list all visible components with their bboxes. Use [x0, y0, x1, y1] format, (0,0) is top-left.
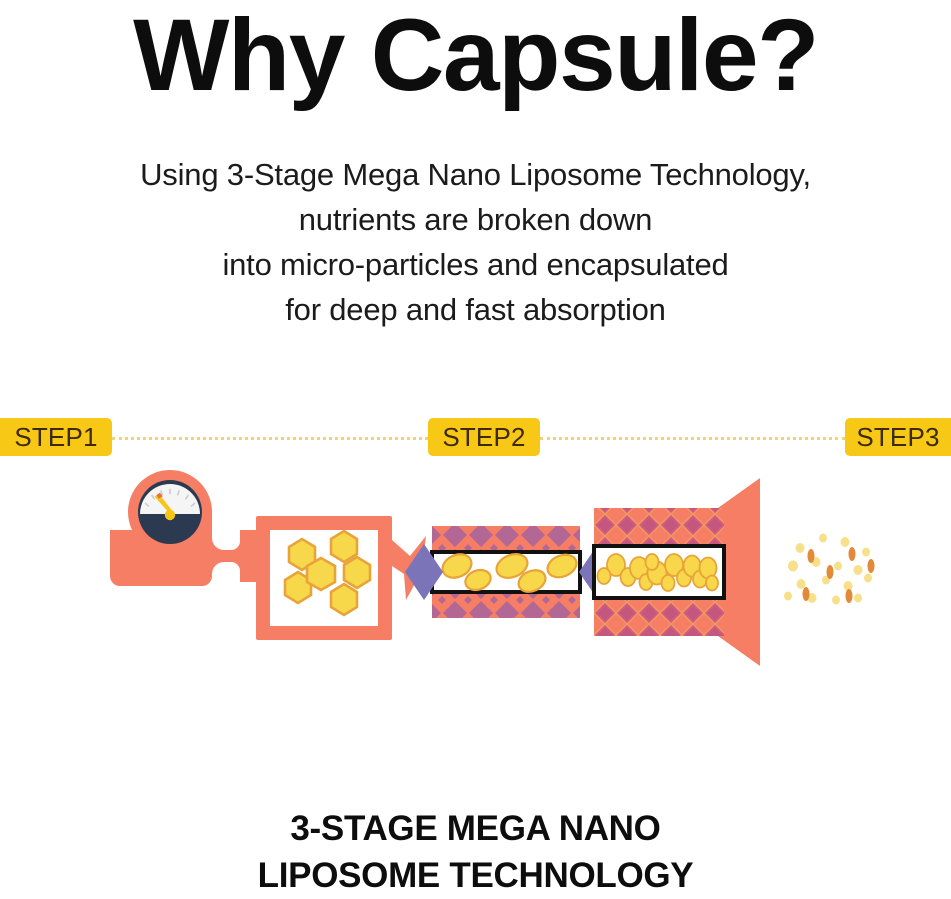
spray-dot-2 — [819, 534, 827, 543]
spray-dot-14 — [832, 596, 840, 605]
spray-dot-15 — [854, 594, 862, 603]
stage1-group — [110, 470, 266, 586]
spray-dot-5 — [788, 561, 798, 572]
subtitle-block: Using 3-Stage Mega Nano Liposome Technol… — [0, 152, 951, 332]
stage3-particle-14 — [646, 554, 659, 570]
subtitle-line-2: nutrients are broken down — [0, 197, 951, 242]
subtitle-line-4: for deep and fast absorption — [0, 287, 951, 332]
stage3-particle-12 — [706, 576, 718, 591]
gauge-needle-hub — [165, 510, 175, 520]
spray-dot-8 — [854, 565, 863, 575]
stage2-chamber-group — [405, 526, 580, 618]
step-rail: STEP1 STEP2 STEP3 — [0, 418, 951, 458]
stage2-top-lattice-band — [432, 526, 580, 552]
spray-dot-7 — [834, 562, 842, 571]
hexagon-4 — [307, 558, 335, 590]
stage3-particle-6 — [662, 575, 675, 591]
spray-dot-9 — [797, 579, 806, 589]
caption-line-2: LIPOSOME TECHNOLOGY — [0, 852, 951, 899]
stage3-particle-13 — [598, 568, 611, 584]
process-illustration — [0, 470, 951, 680]
output-particle-spray — [784, 534, 875, 605]
step-badge-3[interactable]: STEP3 — [845, 418, 951, 456]
spray-dot-3 — [841, 537, 850, 547]
subtitle-line-1: Using 3-Stage Mega Nano Liposome Technol… — [0, 152, 951, 197]
spray-dot-12 — [864, 574, 872, 583]
hexagon-2 — [331, 531, 357, 562]
step-badge-1[interactable]: STEP1 — [0, 418, 112, 456]
bottom-caption: 3-STAGE MEGA NANO LIPOSOME TECHNOLOGY — [0, 805, 951, 899]
spray-dot-orange-3 — [827, 565, 834, 579]
hexagon-chamber-group — [256, 516, 421, 640]
stage3-bottom-lattice-band — [594, 598, 724, 636]
caption-line-1: 3-STAGE MEGA NANO — [0, 805, 951, 852]
page-title: Why Capsule? — [0, 2, 951, 108]
spray-dot-orange-4 — [868, 559, 875, 573]
subtitle-line-3: into micro-particles and encapsulated — [0, 242, 951, 287]
spray-dot-orange-6 — [846, 589, 853, 603]
spray-dot-16 — [784, 592, 792, 601]
spray-dot-orange-1 — [808, 549, 815, 563]
step-connector-1-2-dotted-line — [112, 437, 428, 443]
stage3-chamber-group — [594, 478, 760, 666]
stage2-bottom-lattice-band — [432, 592, 580, 618]
step-badge-2[interactable]: STEP2 — [428, 418, 540, 456]
stage3-top-lattice-band — [594, 508, 724, 546]
step-connector-2-3-dotted-line — [540, 437, 845, 443]
hexagon-5 — [344, 557, 370, 588]
spray-dot-orange-2 — [849, 547, 856, 561]
spray-dot-1 — [796, 543, 805, 553]
spray-dot-4 — [862, 548, 870, 557]
spray-dot-orange-5 — [803, 587, 810, 601]
hexagon-6 — [331, 584, 357, 615]
